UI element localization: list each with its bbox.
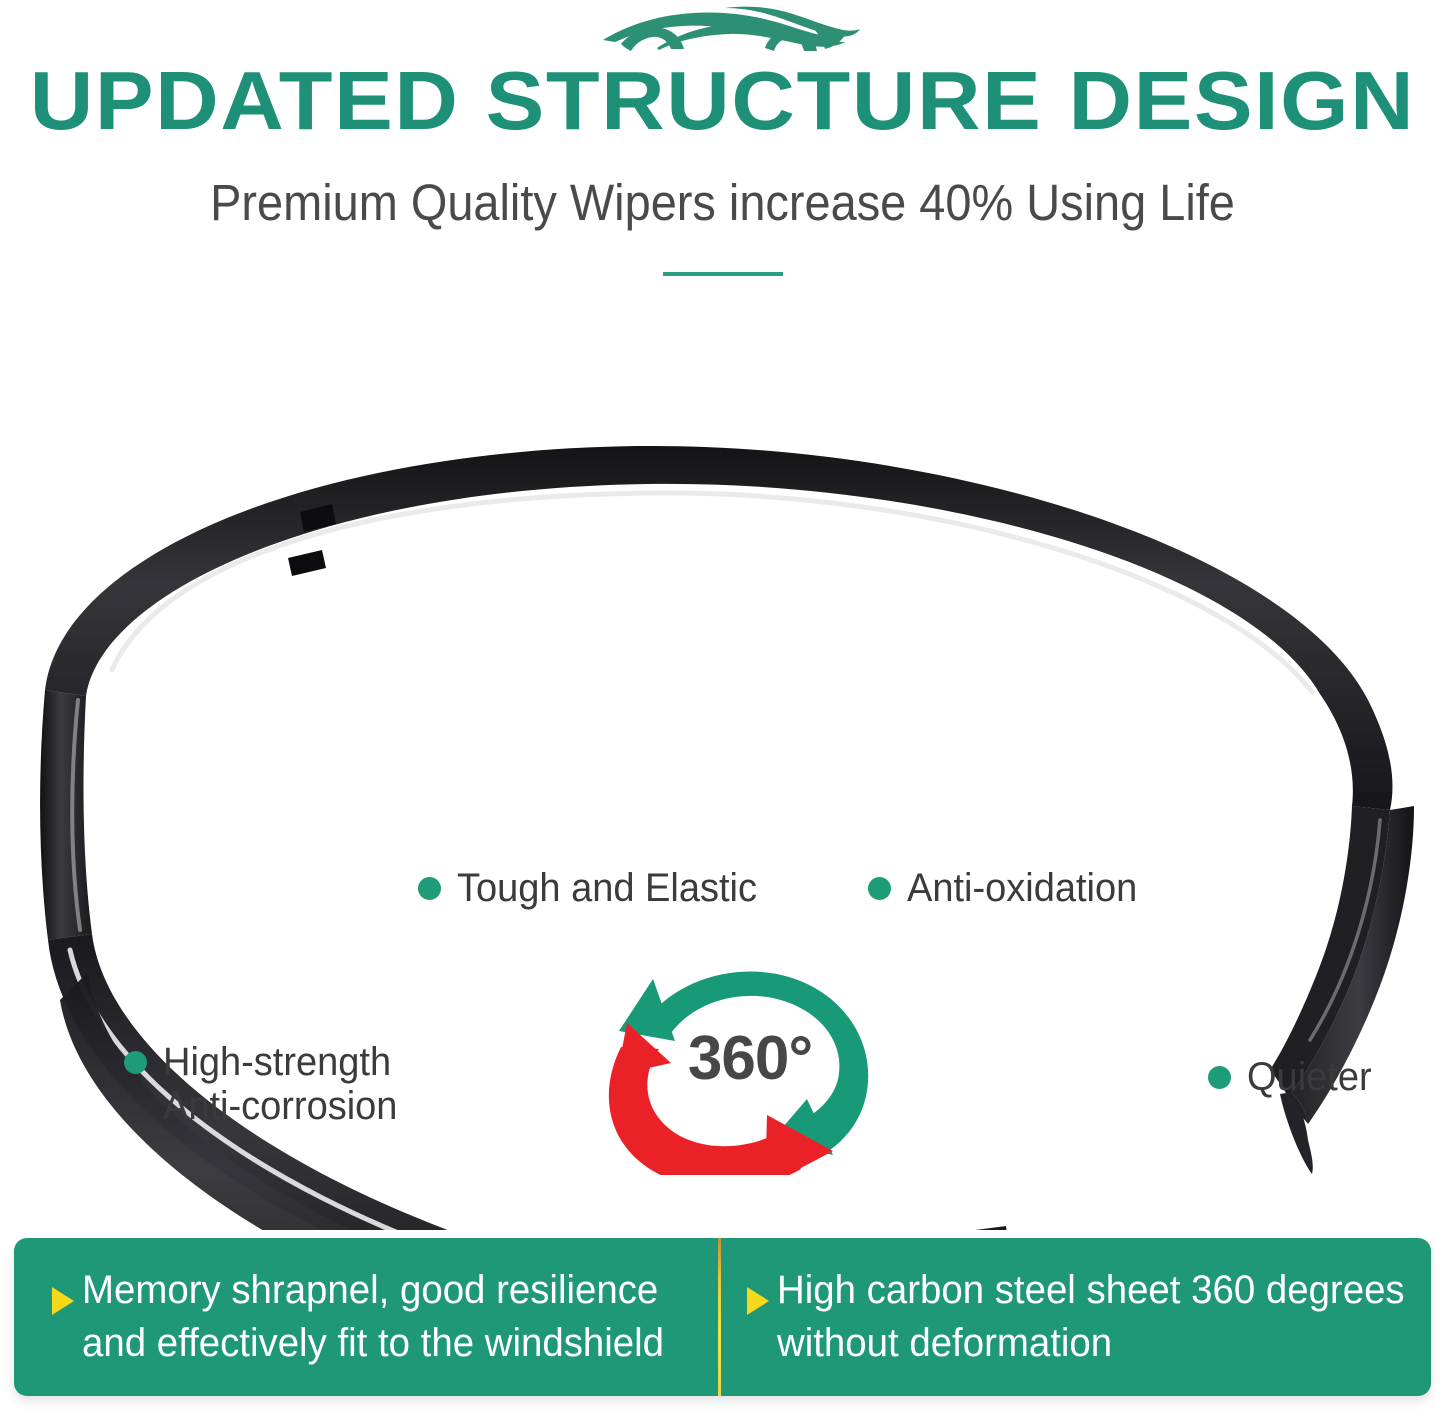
badge-360-value: 360°	[575, 1027, 925, 1091]
banner-text-line-1: Memory shrapnel, good resilience	[82, 1264, 664, 1317]
banner-panel-text: Memory shrapnel, good resilience and eff…	[82, 1264, 664, 1370]
banner-text-line-2: without deformation	[777, 1317, 1405, 1370]
car-silhouette-icon	[597, 4, 863, 56]
triangle-right-icon	[747, 1287, 769, 1315]
feature-label-text: Quieter	[1247, 1055, 1372, 1099]
bullet-dot-icon	[418, 877, 441, 900]
feature-label-line-2: Anti-corrosion	[163, 1084, 397, 1128]
triangle-right-icon	[52, 1287, 74, 1315]
badge-360: 360°	[575, 955, 925, 1175]
feature-label-text: High-strength Anti-corrosion	[163, 1040, 397, 1128]
feature-label-quieter: Quieter	[1208, 1055, 1378, 1099]
feature-label-text: Anti-oxidation	[907, 866, 1137, 910]
bullet-dot-icon	[124, 1051, 147, 1074]
banner-panel-high-carbon-steel: High carbon steel sheet 360 degrees with…	[699, 1238, 1431, 1396]
feature-label-tough-and-elastic: Tough and Elastic	[418, 866, 773, 910]
feature-label-anti-oxidation: Anti-oxidation	[868, 866, 1149, 910]
feature-label-high-strength-anti-corrosion: High-strength Anti-corrosion	[124, 1040, 410, 1128]
header-block: UPDATED STRUCTURE DESIGN Premium Quality…	[0, 0, 1445, 300]
bottom-banner: Memory shrapnel, good resilience and eff…	[14, 1238, 1431, 1396]
banner-text-line-1: High carbon steel sheet 360 degrees	[777, 1264, 1405, 1317]
page-subtitle: Premium Quality Wipers increase 40% Usin…	[58, 173, 1387, 233]
banner-panel-text: High carbon steel sheet 360 degrees with…	[777, 1264, 1405, 1370]
banner-panel-memory-shrapnel: Memory shrapnel, good resilience and eff…	[14, 1238, 699, 1396]
feature-label-line-1: High-strength	[163, 1040, 397, 1084]
banner-divider	[718, 1238, 721, 1396]
product-illustration-area: 360° Tough and Elastic Anti-oxidation Hi…	[0, 300, 1445, 1230]
bullet-dot-icon	[1208, 1066, 1231, 1089]
bullet-dot-icon	[868, 877, 891, 900]
banner-text-line-2: and effectively fit to the windshield	[82, 1317, 664, 1370]
feature-label-text: Tough and Elastic	[457, 866, 757, 910]
title-divider	[663, 272, 783, 276]
page-title: UPDATED STRUCTURE DESIGN	[0, 58, 1445, 144]
